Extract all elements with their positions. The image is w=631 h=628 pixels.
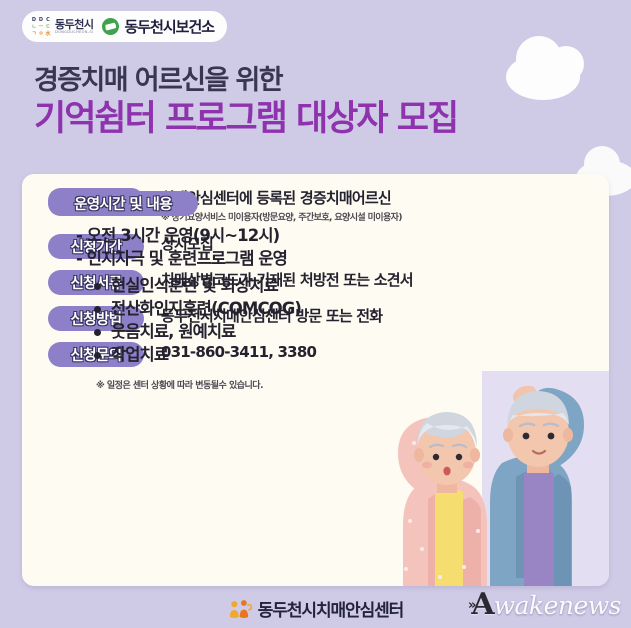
city-name-kr: 동두천시 [55,19,93,30]
poster-root: D D C ㄴ ㅡ ㄷ ㄱ ㅇ 水 동두천시 DONGDUCHEON-SI 동두… [0,0,631,628]
ddc-cell: 水 [45,31,51,37]
ddc-cell: ㄱ [31,31,37,37]
watermark-text: wakenews [494,593,621,618]
elderly-couple-illustration [394,371,609,586]
health-center-icon [102,18,119,35]
city-name-en: DONGDUCHEON-SI [55,31,93,35]
operation-line-hours: - 오전 3시간 운영(9시~12시) [76,225,609,248]
operation-bullet-item: 현실인식훈련 및 회상치료 [92,274,609,297]
dementia-care-center-icon [228,600,252,618]
headline-title: 기억쉼터 프로그램 대상자 모집 [34,100,594,139]
watermark-letter-a: A [471,590,492,620]
city-logo: D D C ㄴ ㅡ ㄷ ㄱ ㅇ 水 동두천시 DONGDUCHEON-SI [31,17,93,37]
operation-label: 운영시간 및 내용 [48,191,198,216]
ddc-cell: D [31,17,37,23]
ddc-emblem-icon: D D C ㄴ ㅡ ㄷ ㄱ ㅇ 水 [31,17,51,37]
headline-subtitle: 경증치매 어르신을 위한 [34,66,594,96]
city-name-block: 동두천시 DONGDUCHEON-SI [55,19,93,35]
ddc-cell: D [38,17,44,23]
operation-bullet-item: 전산화인지훈련(COMCOG) [92,297,609,320]
ddc-cell: ㅡ [38,24,44,30]
ddc-cell: ㅇ [38,31,44,37]
health-center-logo: 동두천시보건소 [102,16,214,37]
footer-brand: 동두천시치매안심센터 [228,596,403,621]
operation-footnote: ※ 일정은 센터 상황에 따라 변동될수 있습니다. [96,378,609,391]
header-logo-bar: D D C ㄴ ㅡ ㄷ ㄱ ㅇ 水 동두천시 DONGDUCHEON-SI 동두… [22,11,227,42]
operation-bullet-list: 현실인식훈련 및 회상치료 전산화인지훈련(COMCOG) 웃음치료, 원예치료… [92,274,609,366]
headline-block: 경증치매 어르신을 위한 기억쉼터 프로그램 대상자 모집 [34,66,594,139]
ddc-cell: ㄷ [45,24,51,30]
footer-center-name: 동두천시치매안심센터 [258,596,403,621]
ddc-cell: ㄴ [31,24,37,30]
operation-label-wrap: 운영시간 및 내용 [48,191,609,216]
operation-line-programs: - 인지자극 및 훈련프로그램 운영 [76,248,609,271]
information-card: 대 상 자 치매안심센터에 등록된 경증치매어르신 ※ 장기요양서비스 미이용자… [22,174,609,586]
operation-bullet-item: 작업치료 [92,343,609,366]
awakenews-watermark: » A wakenews [468,590,621,620]
operation-section: 운영시간 및 내용 - 오전 3시간 운영(9시~12시) - 인지자극 및 훈… [22,191,609,391]
operation-lines: - 오전 3시간 운영(9시~12시) - 인지자극 및 훈련프로그램 운영 현… [76,225,609,366]
ddc-cell: C [45,17,51,23]
operation-bullet-item: 웃음치료, 원예치료 [92,320,609,343]
health-center-label: 동두천시보건소 [124,16,214,37]
